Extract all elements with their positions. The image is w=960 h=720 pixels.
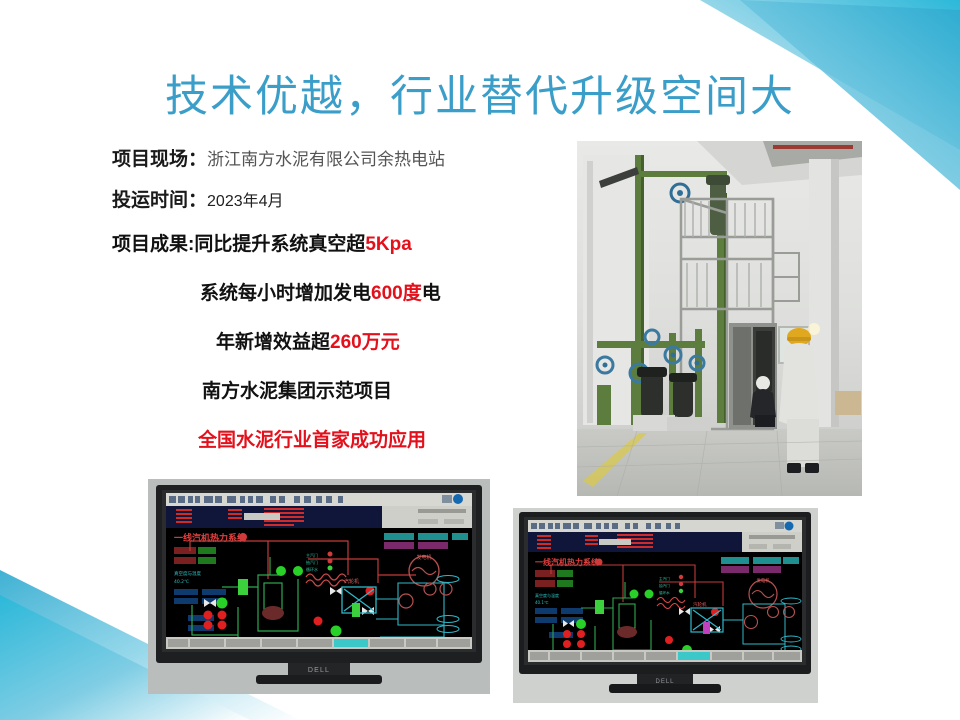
bullet-first-application: 全国水泥行业首家成功应用 bbox=[112, 425, 572, 452]
svg-text:DELL: DELL bbox=[308, 667, 330, 674]
result-label: 项目成果: bbox=[112, 234, 194, 255]
svg-text:40.2℃: 40.2℃ bbox=[174, 579, 189, 585]
bullet-demo-project: 南方水泥集团示范项目 bbox=[112, 376, 572, 403]
svg-text:抽汽门: 抽汽门 bbox=[306, 559, 318, 565]
detail-value-site: 浙江南方水泥有限公司余热电站 bbox=[207, 150, 445, 169]
monitor-left-illustration: DELL bbox=[148, 479, 490, 694]
detail-row-site: 项目现场：浙江南方水泥有限公司余热电站 bbox=[112, 144, 572, 171]
bullet-text-1: 系统每小时增加发电 bbox=[200, 283, 371, 304]
svg-text:抽汽门: 抽汽门 bbox=[659, 583, 670, 588]
bullet-text-3: 南方水泥集团示范项目 bbox=[202, 381, 392, 402]
plant-site-photo bbox=[577, 141, 862, 496]
result-text: 同比提升系统真空超 bbox=[194, 234, 365, 255]
svg-text:真空度与温度: 真空度与温度 bbox=[174, 570, 201, 577]
svg-text:循环水: 循环水 bbox=[659, 590, 670, 595]
result-row: 项目成果:同比提升系统真空超5Kpa bbox=[112, 229, 572, 256]
content-text-block: 项目现场：浙江南方水泥有限公司余热电站 投运时间：2023年4月 项目成果:同比… bbox=[112, 140, 572, 452]
bullet-text-4: 全国水泥行业首家成功应用 bbox=[198, 430, 426, 451]
svg-text:一线汽机热力系统: 一线汽机热力系统 bbox=[174, 532, 246, 544]
dcs-monitor-right: DELL bbox=[513, 508, 818, 703]
bullet-tail-1: 电 bbox=[422, 283, 441, 304]
svg-text:真空度与温度: 真空度与温度 bbox=[535, 592, 559, 598]
detail-label-date: 投运时间： bbox=[112, 190, 207, 211]
bullet-text-2: 年新增效益超 bbox=[216, 332, 330, 353]
result-highlight: 5Kpa bbox=[365, 234, 411, 255]
dcs-monitor-left: DELL bbox=[148, 479, 490, 694]
svg-text:发电机: 发电机 bbox=[756, 577, 770, 584]
svg-text:40.1℃: 40.1℃ bbox=[535, 600, 549, 605]
detail-label-site: 项目现场： bbox=[112, 149, 207, 170]
monitor-right-illustration: DELL bbox=[513, 508, 818, 703]
detail-value-date: 2023年4月 bbox=[207, 193, 284, 210]
svg-text:主汽门: 主汽门 bbox=[306, 552, 318, 558]
bullet-annual-benefit: 年新增效益超260万元 bbox=[112, 327, 572, 354]
svg-text:汽轮机: 汽轮机 bbox=[344, 578, 359, 585]
slide-root: 技术优越，行业替代升级空间大 项目现场：浙江南方水泥有限公司余热电站 投运时间：… bbox=[0, 0, 960, 720]
bullet-highlight-1: 600度 bbox=[371, 283, 422, 304]
svg-text:循环水: 循环水 bbox=[306, 566, 318, 572]
bullet-highlight-2: 260万元 bbox=[330, 332, 400, 353]
bullet-power-output: 系统每小时增加发电600度电 bbox=[112, 278, 572, 305]
detail-row-date: 投运时间：2023年4月 bbox=[112, 185, 572, 212]
svg-text:DELL: DELL bbox=[655, 679, 674, 685]
svg-text:发电机: 发电机 bbox=[416, 554, 431, 561]
svg-text:主汽门: 主汽门 bbox=[659, 576, 670, 581]
page-title: 技术优越，行业替代升级空间大 bbox=[0, 62, 960, 124]
plant-photo-illustration bbox=[577, 141, 862, 496]
svg-text:汽轮机: 汽轮机 bbox=[693, 601, 707, 608]
